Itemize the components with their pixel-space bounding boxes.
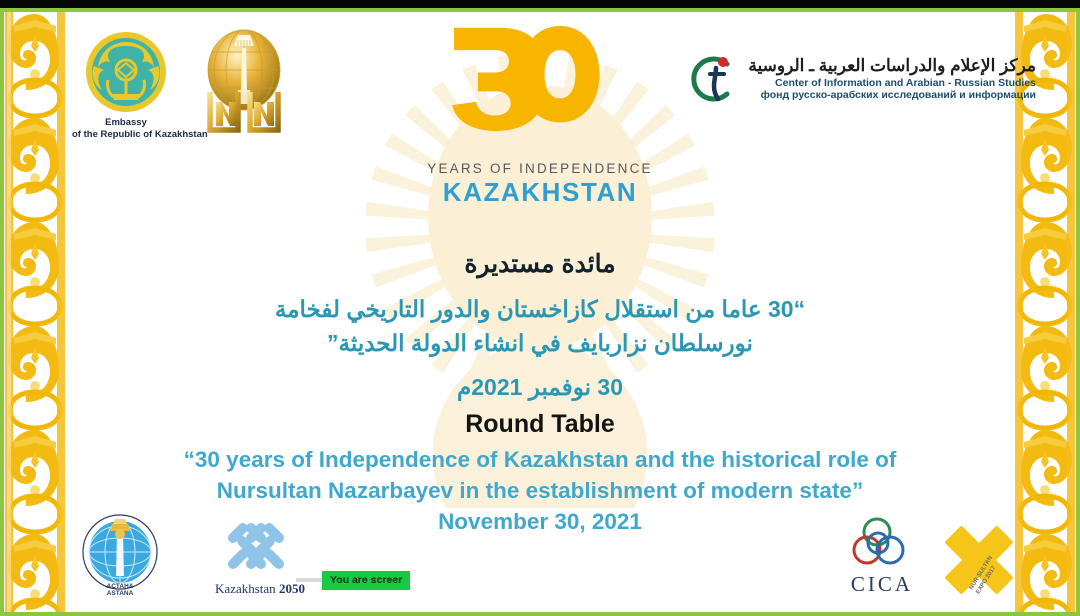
ciars-logo: مركز الإعلام والدراسات العربية ـ الروسية… <box>683 50 1036 108</box>
astana-city-emblem-icon: ACTAHA ASTANA <box>76 512 164 600</box>
astana-logo: ACTAHA ASTANA <box>76 512 164 605</box>
arabic-title-line1: “30 عاما من استقلال كازاخستان والدور الت… <box>0 292 1080 326</box>
english-title: “30 years of Independence of Kazakhstan … <box>0 444 1080 506</box>
frame-border-bottom <box>0 612 1080 616</box>
frame-border-right <box>1076 8 1080 616</box>
ciars-english-name: Center of Information and Arabian - Russ… <box>748 77 1036 90</box>
nn-globe-baiterek-emblem-icon <box>192 26 296 138</box>
x-logo: NUR-SULTAN EXPO 2017 <box>932 518 1024 615</box>
cica-wordmark: CICA <box>834 572 930 597</box>
ciars-russian-name: фонд русско-арабских исследований и инфо… <box>748 89 1036 102</box>
years-of-independence-label: YEARS OF INDEPENDENCE <box>425 161 655 176</box>
banner-content: Embassy of the Republic of Kazakhstan <box>0 12 1080 612</box>
embassy-caption-line2: of the Republic of Kazakhstan <box>72 129 208 140</box>
kazakhstan-state-emblem-icon <box>84 30 168 114</box>
english-title-line1: “30 years of Independence of Kazakhstan … <box>0 444 1080 475</box>
frame-border-top <box>0 8 1080 12</box>
banner-screen: Embassy of the Republic of Kazakhstan <box>0 0 1080 616</box>
anniversary-logo: YEARS OF INDEPENDENCE KAZAKHSTAN <box>425 26 655 208</box>
screen-share-badge[interactable]: You are screer <box>322 571 410 590</box>
kazakhstan-2050-flower-icon <box>221 517 299 579</box>
kazakhstan-2050-logo: Kazakhstan 2050 <box>180 517 340 597</box>
kazakhstan-2050-year: 2050 <box>279 581 305 596</box>
arabic-heading: مائدة مستديرة <box>0 249 1080 279</box>
embassy-caption-line1: Embassy <box>105 117 147 128</box>
arabic-date: 30 نوفمبر 2021م <box>0 374 1080 401</box>
english-title-line2: Nursultan Nazarbayev in the establishmen… <box>0 475 1080 506</box>
nn-foundation-logo <box>192 26 296 143</box>
ciars-arabic-name: مركز الإعلام والدراسات العربية ـ الروسية <box>748 56 1036 76</box>
arabic-title: “30 عاما من استقلال كازاخستان والدور الت… <box>0 292 1080 360</box>
arabic-title-line2: نورسلطان نزاربايف في انشاء الدولة الحديث… <box>0 326 1080 360</box>
yellow-x-logo-icon: NUR-SULTAN EXPO 2017 <box>932 518 1024 610</box>
cica-interlocking-rings-icon <box>845 516 919 574</box>
kazakhstan-2050-word: Kazakhstan <box>215 581 276 596</box>
cica-logo: CICA <box>834 516 930 597</box>
frame-border-left <box>0 8 4 616</box>
english-heading: Round Table <box>0 410 1080 439</box>
capture-top-bar <box>0 0 1080 8</box>
ciars-logo-icon <box>683 50 741 108</box>
embassy-logo: Embassy of the Republic of Kazakhstan <box>72 30 180 141</box>
thirty-numeral-icon <box>447 26 633 154</box>
astana-label-kz: ACTAHA <box>107 583 134 590</box>
astana-label-en: ASTANA <box>107 590 134 597</box>
kazakhstan-label: KAZAKHSTAN <box>425 177 655 208</box>
